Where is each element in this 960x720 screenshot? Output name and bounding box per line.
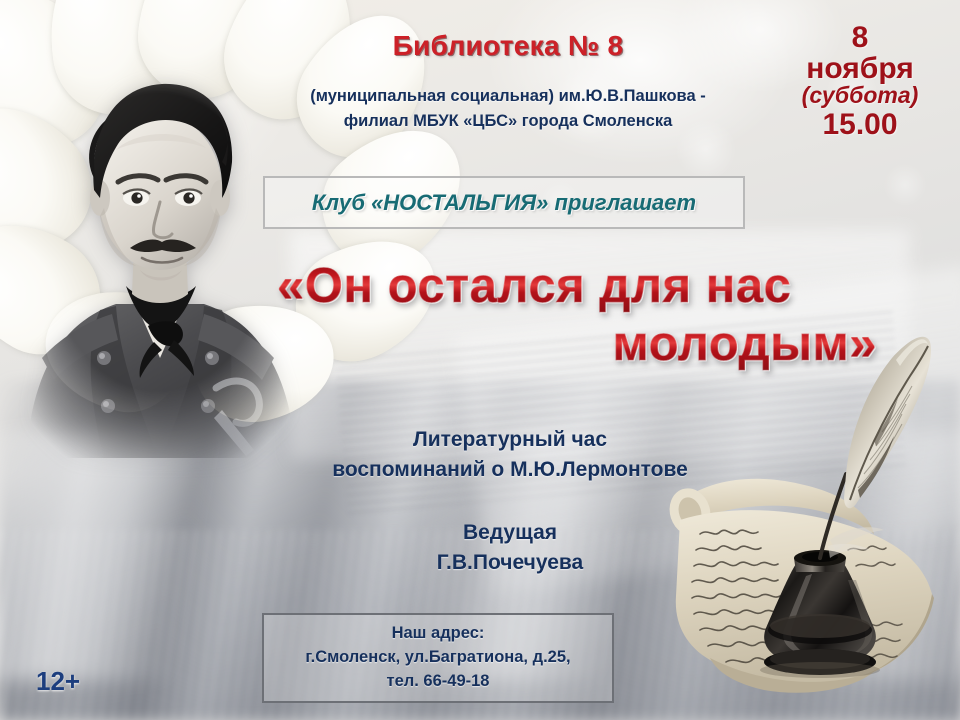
event-description-line1: Литературный час [250,425,770,455]
poster-canvas: Библиотека № 8 (муниципальная социальная… [0,0,960,720]
event-title: «Он остался для нас молодым» [255,258,895,374]
library-subtitle-line2: филиал МБУК «ЦБС» города Смоленска [248,109,768,134]
quill-inkwell-illustration [660,328,950,698]
event-host: Ведущая Г.В.Почечуева [250,518,770,578]
event-description-line2: воспоминаний о М.Ю.Лермонтове [250,455,770,485]
address-label: Наш адрес: [392,622,485,646]
club-invitation-box: Клуб «НОСТАЛЬГИЯ» приглашает [263,176,745,229]
club-invitation-text: Клуб «НОСТАЛЬГИЯ» приглашает [312,190,696,216]
library-subtitle: (муниципальная социальная) им.Ю.В.Пашков… [248,84,768,134]
address-box: Наш адрес: г.Смоленск, ул.Багратиона, д.… [262,613,614,703]
event-time: 15.00 [770,109,950,140]
library-title: Библиотека № 8 [268,30,748,62]
event-month: ноября [770,53,950,84]
age-rating-badge: 12+ [36,666,80,697]
event-weekday: (суббота) [770,84,950,108]
event-day: 8 [770,22,950,53]
event-title-line1: «Он остался для нас [255,258,895,316]
address-phone: тел. 66-49-18 [387,670,490,694]
event-description: Литературный час воспоминаний о М.Ю.Лерм… [250,425,770,485]
event-host-label: Ведущая [250,518,770,548]
address-street: г.Смоленск, ул.Багратиона, д.25, [305,646,570,670]
library-subtitle-line1: (муниципальная социальная) им.Ю.В.Пашков… [248,84,768,109]
event-title-line2: молодым» [255,316,895,374]
event-title-line1-text: «Он остался для нас [277,259,791,313]
event-host-name: Г.В.Почечуева [250,548,770,578]
event-date-block: 8 ноября (суббота) 15.00 [770,22,950,140]
event-title-line2-text: молодым» [612,317,877,371]
